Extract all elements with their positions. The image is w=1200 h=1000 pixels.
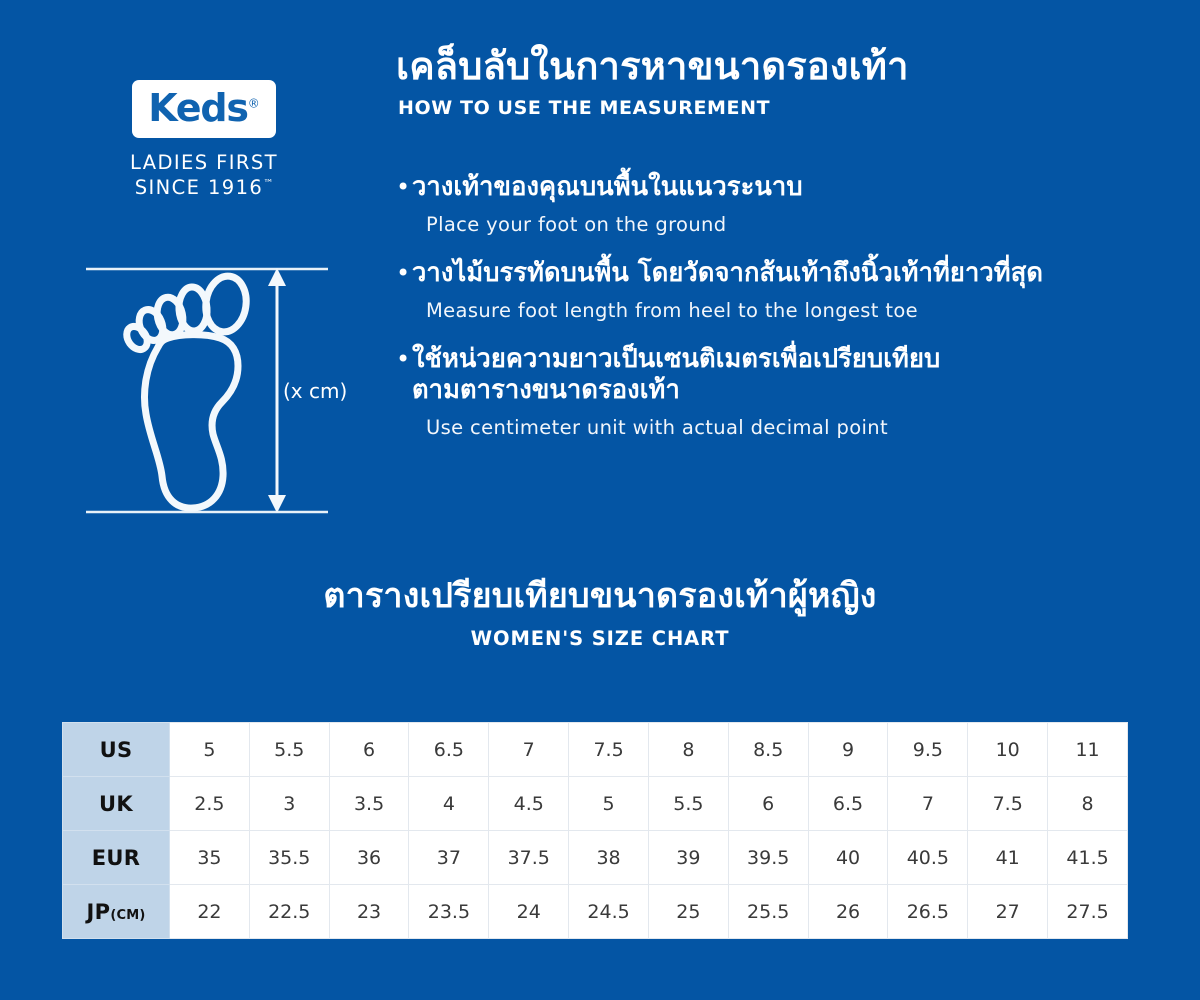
row-label-unit: (CM) — [110, 908, 145, 923]
table-cell: 4 — [409, 777, 489, 831]
instruction-step: • วางเท้าของคุณบนพื้นในแนวระนาบ Place yo… — [396, 172, 1056, 236]
table-cell: 36 — [329, 831, 409, 885]
step-text-english: Place your foot on the ground — [426, 213, 1056, 236]
table-cell: 23.5 — [409, 885, 489, 939]
table-cell: 9.5 — [888, 723, 968, 777]
size-chart-title-thai: ตารางเปรียบเทียบขนาดรองเท้าผู้หญิง — [0, 576, 1200, 617]
table-cell: 35 — [170, 831, 250, 885]
table-cell: 8.5 — [728, 723, 808, 777]
table-cell: 22.5 — [249, 885, 329, 939]
table-cell: 37.5 — [489, 831, 569, 885]
brand-tagline-line1: LADIES FIRST — [104, 151, 304, 176]
table-row: EUR3535.5363737.5383939.54040.54141.5 — [63, 831, 1128, 885]
table-cell: 7 — [888, 777, 968, 831]
table-cell: 24.5 — [569, 885, 649, 939]
table-cell: 6.5 — [808, 777, 888, 831]
table-cell: 25.5 — [728, 885, 808, 939]
bullet-icon: • — [396, 344, 412, 374]
table-cell: 4.5 — [489, 777, 569, 831]
step-text-english: Use centimeter unit with actual decimal … — [426, 416, 1056, 439]
table-cell: 11 — [1048, 723, 1128, 777]
table-row: UK2.533.544.555.566.577.58 — [63, 777, 1128, 831]
table-cell: 40.5 — [888, 831, 968, 885]
table-cell: 8 — [648, 723, 728, 777]
table-cell: 2.5 — [170, 777, 250, 831]
table-cell: 27.5 — [1048, 885, 1128, 939]
step-text-english: Measure foot length from heel to the lon… — [426, 299, 1056, 322]
table-cell: 35.5 — [249, 831, 329, 885]
step-text-thai: ใช้หน่วยความยาวเป็นเซนติเมตรเพื่อเปรียบเ… — [412, 344, 940, 406]
step-text-thai: วางเท้าของคุณบนพื้นในแนวระนาบ — [412, 172, 803, 203]
table-cell: 37 — [409, 831, 489, 885]
brand-tagline: LADIES FIRST SINCE 1916™ — [104, 151, 304, 201]
table-cell: 5 — [170, 723, 250, 777]
brand-tagline-line2: SINCE 1916™ — [104, 176, 304, 201]
table-cell: 7 — [489, 723, 569, 777]
page-title-thai: เคล็บลับในการหาขนาดรองเท้า — [396, 44, 1050, 89]
instruction-step: • ใช้หน่วยความยาวเป็นเซนติเมตรเพื่อเปรีย… — [396, 344, 1056, 439]
table-cell: 26 — [808, 885, 888, 939]
table-cell: 27 — [968, 885, 1048, 939]
table-cell: 6 — [728, 777, 808, 831]
table-row: US55.566.577.588.599.51011 — [63, 723, 1128, 777]
measure-arrow-head-top — [268, 268, 286, 286]
table-cell: 5.5 — [648, 777, 728, 831]
table-cell: 39.5 — [728, 831, 808, 885]
table-cell: 26.5 — [888, 885, 968, 939]
size-chart-body: US55.566.577.588.599.51011UK2.533.544.55… — [63, 723, 1128, 939]
row-label-uk: UK — [63, 777, 170, 831]
table-cell: 7.5 — [968, 777, 1048, 831]
foot-sole-shape — [145, 335, 239, 508]
table-cell: 6 — [329, 723, 409, 777]
table-cell: 7.5 — [569, 723, 649, 777]
keds-logo-text: Keds — [148, 86, 248, 130]
table-cell: 9 — [808, 723, 888, 777]
header-block: เคล็บลับในการหาขนาดรองเท้า HOW TO USE TH… — [390, 44, 1050, 119]
table-cell: 39 — [648, 831, 728, 885]
measure-arrow-head-bottom — [268, 495, 286, 513]
table-row: JP(CM)2222.52323.52424.52525.52626.52727… — [63, 885, 1128, 939]
table-cell: 40 — [808, 831, 888, 885]
table-cell: 8 — [1048, 777, 1128, 831]
table-cell: 25 — [648, 885, 728, 939]
brand-block: Keds® LADIES FIRST SINCE 1916™ — [104, 80, 304, 201]
size-chart-title-english: WOMEN'S SIZE CHART — [0, 627, 1200, 650]
table-cell: 6.5 — [409, 723, 489, 777]
table-cell: 5.5 — [249, 723, 329, 777]
row-label-jp: JP(CM) — [63, 885, 170, 939]
keds-logo-wordmark: Keds® — [148, 89, 260, 127]
keds-logo: Keds® — [132, 80, 276, 138]
bullet-icon: • — [396, 172, 412, 202]
instruction-step: • วางไม้บรรทัดบนพื้น โดยวัดจากส้นเท้าถึง… — [396, 258, 1056, 322]
size-chart-table-wrap: US55.566.577.588.599.51011UK2.533.544.55… — [62, 722, 1128, 939]
table-cell: 3 — [249, 777, 329, 831]
table-cell: 41.5 — [1048, 831, 1128, 885]
page-title-english: HOW TO USE THE MEASUREMENT — [398, 97, 1050, 119]
table-cell: 41 — [968, 831, 1048, 885]
step-text-thai: วางไม้บรรทัดบนพื้น โดยวัดจากส้นเท้าถึงนิ… — [412, 258, 1043, 289]
instruction-steps: • วางเท้าของคุณบนพื้นในแนวระนาบ Place yo… — [396, 172, 1056, 461]
table-cell: 10 — [968, 723, 1048, 777]
measure-label: (x cm) — [283, 379, 347, 403]
bullet-icon: • — [396, 258, 412, 288]
table-cell: 3.5 — [329, 777, 409, 831]
table-cell: 23 — [329, 885, 409, 939]
toe-5-little — [123, 323, 152, 354]
size-chart-heading: ตารางเปรียบเทียบขนาดรองเท้าผู้หญิง WOMEN… — [0, 576, 1200, 650]
trademark-mark-icon: ™ — [263, 178, 273, 189]
registered-mark-icon: ® — [248, 96, 260, 110]
table-cell: 22 — [170, 885, 250, 939]
row-label-us: US — [63, 723, 170, 777]
foot-measure-diagram: (x cm) — [80, 262, 360, 530]
size-chart-table: US55.566.577.588.599.51011UK2.533.544.55… — [62, 722, 1128, 939]
table-cell: 38 — [569, 831, 649, 885]
row-label-eur: EUR — [63, 831, 170, 885]
table-cell: 5 — [569, 777, 649, 831]
table-cell: 24 — [489, 885, 569, 939]
